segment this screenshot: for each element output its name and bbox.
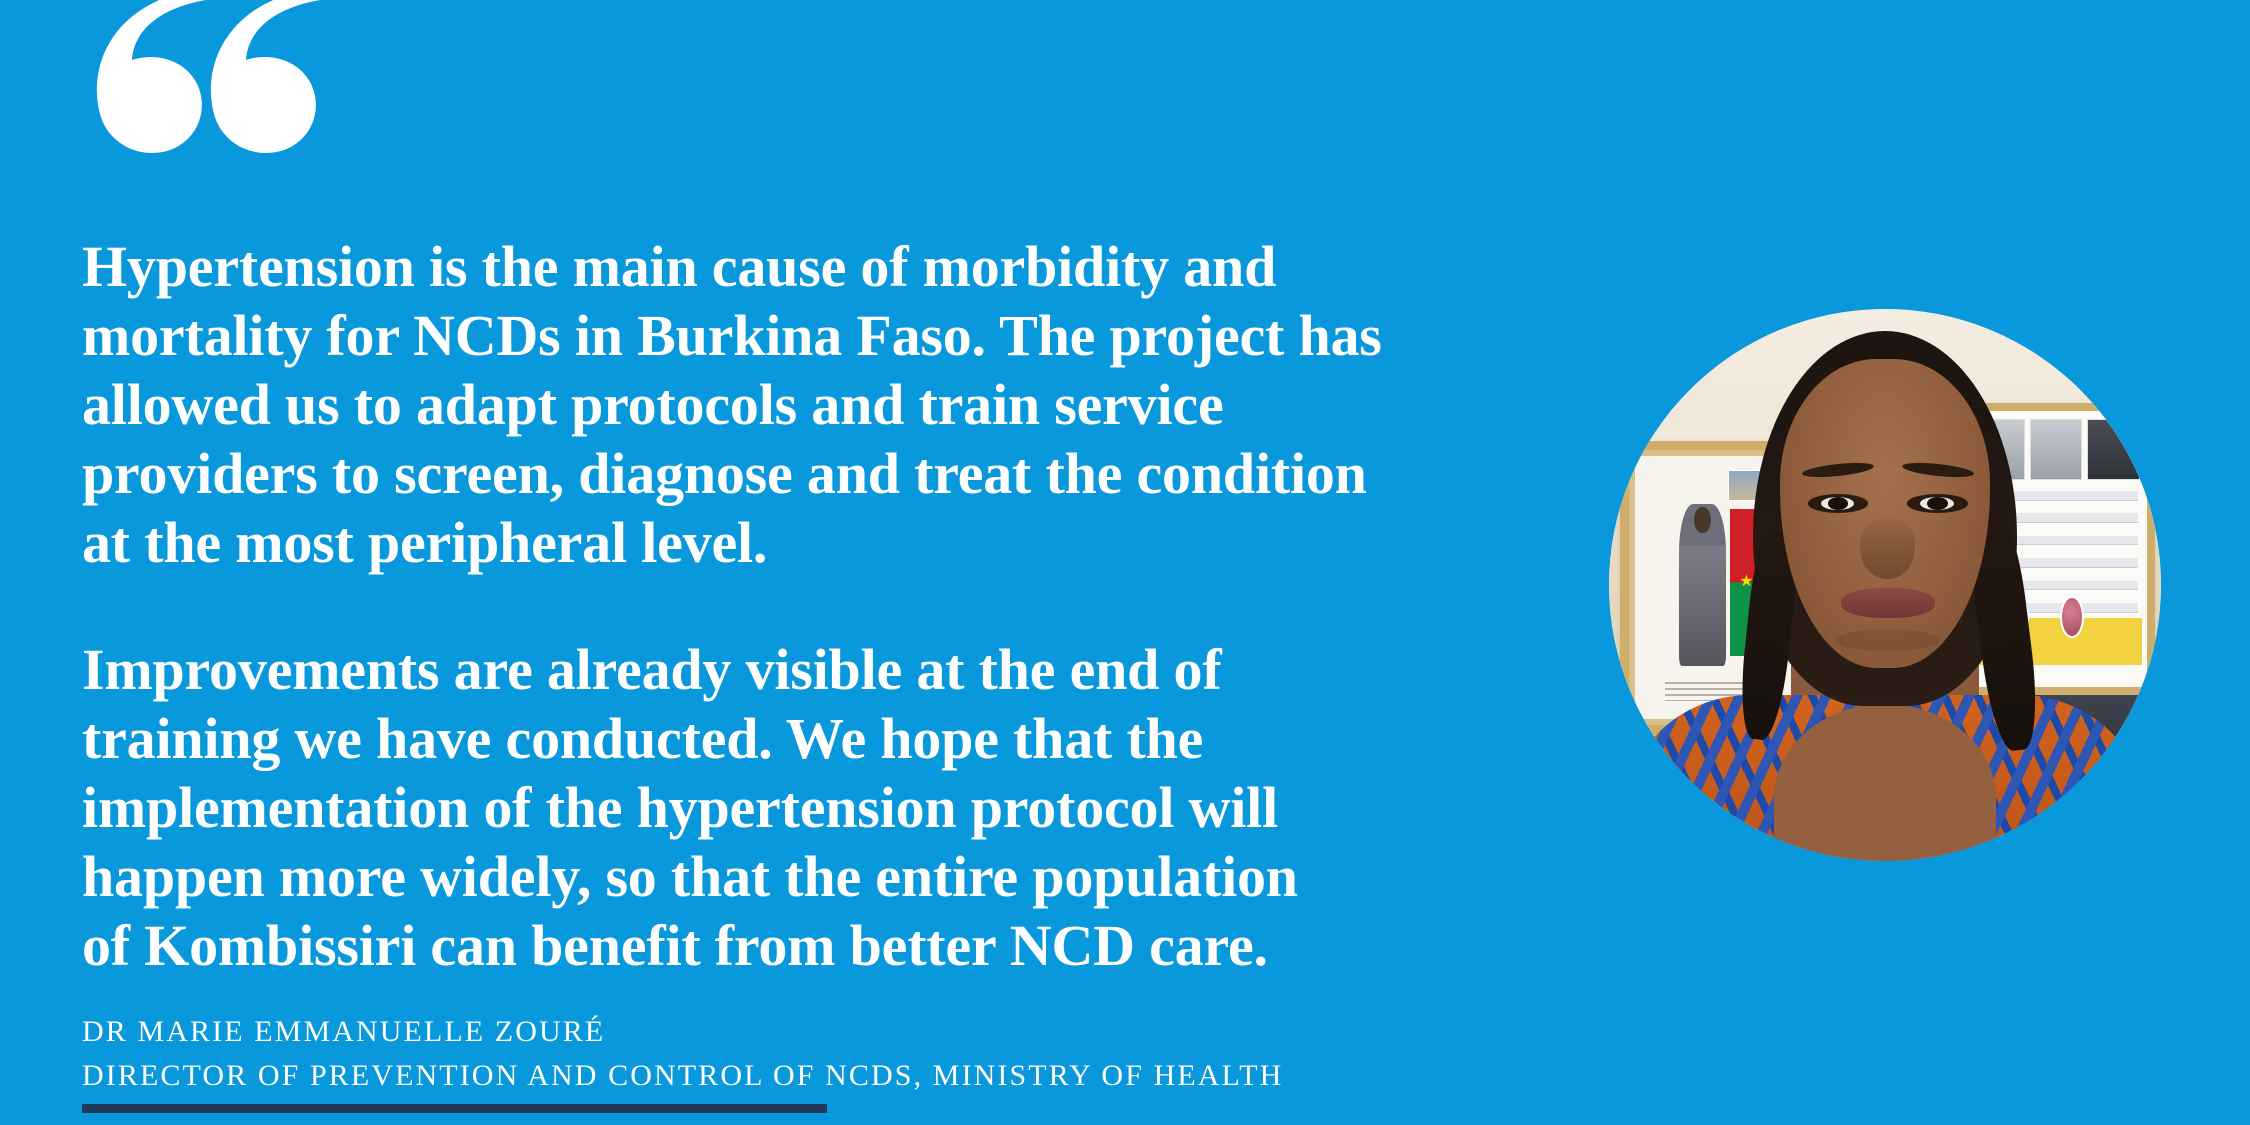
subject-eye-right [1907, 494, 1968, 513]
quote-line: mortality for NCDs in Burkina Faso. The … [82, 301, 1602, 370]
portrait-scene: ★ [1609, 309, 2161, 861]
subject-patterned-top [1620, 695, 2150, 861]
open-quote-icon [68, 0, 368, 190]
quote-text: Hypertension is the main cause of morbid… [82, 232, 1602, 980]
quote-line: Improvements are already visible at the … [82, 635, 1602, 704]
quote-line: training we have conducted. We hope that… [82, 704, 1602, 773]
subject-eye-left [1808, 494, 1869, 513]
quote-line: of Kombissiri can benefit from better NC… [82, 911, 1602, 980]
subject-lips [1841, 588, 1935, 618]
quote-paragraph-1: Hypertension is the main cause of morbid… [82, 232, 1602, 577]
eye-pupil [1927, 497, 1948, 510]
quote-line: implementation of the hypertension proto… [82, 773, 1602, 842]
paragraph-spacer [82, 577, 1602, 635]
quote-paragraph-2: Improvements are already visible at the … [82, 635, 1602, 980]
quote-line: happen more widely, so that the entire p… [82, 842, 1602, 911]
quote-line: providers to screen, diagnose and treat … [82, 439, 1602, 508]
quote-line: at the most peripheral level. [82, 508, 1602, 577]
attribution-name: DR MARIE EMMANUELLE ZOURÉ [82, 1010, 1532, 1054]
subject-chest-skin [1774, 704, 1997, 861]
eye-pupil [1828, 497, 1849, 510]
framed-person-figure [1679, 504, 1726, 667]
portrait-photo: ★ [1609, 309, 2161, 861]
subject-face [1780, 359, 1990, 668]
quote-line: allowed us to adapt protocols and train … [82, 370, 1602, 439]
testimonial-card: Hypertension is the main cause of morbid… [0, 0, 2250, 1125]
board-photo [2087, 419, 2140, 480]
board-icon [2060, 596, 2084, 637]
attribution: DR MARIE EMMANUELLE ZOURÉ DIRECTOR OF PR… [82, 1010, 1532, 1098]
board-photo [2030, 419, 2083, 480]
bottom-divider [82, 1104, 827, 1113]
quote-line: Hypertension is the main cause of morbid… [82, 232, 1602, 301]
framed-person-head [1694, 507, 1710, 533]
attribution-title: DIRECTOR OF PREVENTION AND CONTROL OF NC… [82, 1054, 1532, 1098]
